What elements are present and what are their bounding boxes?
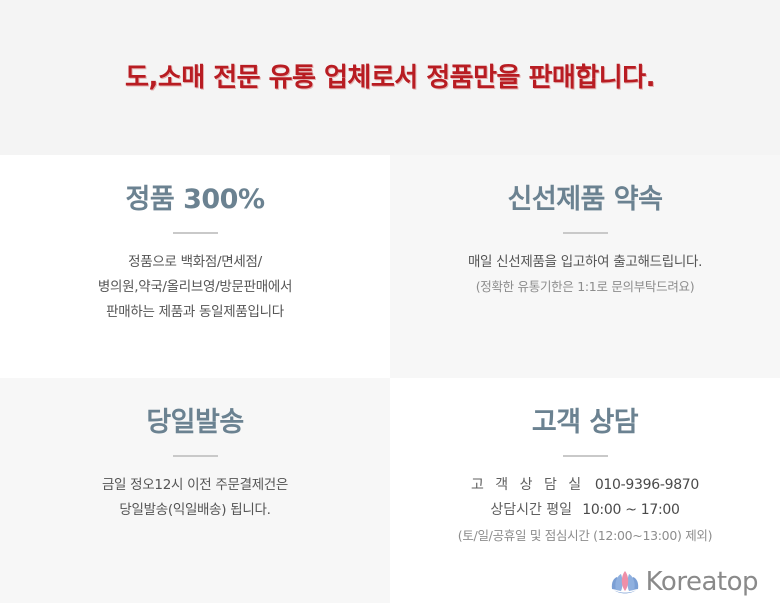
contact-phone-row: 고 객 상 담 실 010-9396-9870: [458, 473, 712, 498]
feature-line: 정품으로 백화점/면세점/: [98, 250, 292, 275]
contact-hours-value: 10:00 ~ 17:00: [582, 502, 679, 518]
feature-cell-authenticity: 정품 300% 정품으로 백화점/면세점/ 병의원,약국/올리브영/방문판매에서…: [0, 155, 390, 378]
feature-title: 정품 300%: [126, 185, 265, 215]
header-band: 도,소매 전문 유통 업체로서 정품만을 판매합니다.: [0, 0, 780, 155]
feature-note: (정확한 유통기한은 1:1로 문의부탁드려요): [468, 275, 702, 298]
feature-grid: 정품 300% 정품으로 백화점/면세점/ 병의원,약국/올리브영/방문판매에서…: [0, 155, 780, 603]
contact-exclusion-note: (토/일/공휴일 및 점심시간 (12:00~13:00) 제외): [458, 525, 712, 548]
title-divider: [173, 455, 218, 457]
title-divider: [563, 455, 608, 457]
contact-phone-value[interactable]: 010-9396-9870: [595, 477, 699, 493]
feature-cell-freshness: 신선제품 약속 매일 신선제품을 입고하여 출고해드립니다. (정확한 유통기한…: [390, 155, 780, 378]
lotus-flower-icon: [610, 569, 640, 595]
contact-phone-label: 고 객 상 담 실: [471, 477, 585, 493]
feature-line: 판매하는 제품과 동일제품입니다: [98, 300, 292, 325]
feature-cell-same-day-shipping: 당일발송 금일 정오12시 이전 주문결제건은 당일발송(익일배송) 됩니다.: [0, 378, 390, 603]
contact-details: 고 객 상 담 실 010-9396-9870 상담시간 평일 10:00 ~ …: [458, 473, 712, 548]
feature-body: 금일 정오12시 이전 주문결제건은 당일발송(익일배송) 됩니다.: [102, 473, 288, 523]
feature-line: 매일 신선제품을 입고하여 출고해드립니다.: [468, 250, 702, 275]
title-divider: [173, 232, 218, 234]
feature-body: 매일 신선제품을 입고하여 출고해드립니다. (정확한 유통기한은 1:1로 문…: [468, 250, 702, 298]
feature-title: 당일발송: [146, 408, 243, 438]
brand-name: Koreatop: [646, 569, 758, 595]
page-title: 도,소매 전문 유통 업체로서 정품만을 판매합니다.: [125, 65, 655, 91]
feature-line: 병의원,약국/올리브영/방문판매에서: [98, 275, 292, 300]
contact-hours-row: 상담시간 평일 10:00 ~ 17:00: [458, 498, 712, 523]
promo-banner: 도,소매 전문 유통 업체로서 정품만을 판매합니다. 정품 300% 정품으로…: [0, 0, 780, 603]
feature-title: 신선제품 약속: [508, 185, 663, 215]
contact-hours-label: 상담시간 평일: [490, 502, 572, 518]
brand-logo[interactable]: Koreatop: [610, 569, 758, 595]
feature-body: 정품으로 백화점/면세점/ 병의원,약국/올리브영/방문판매에서 판매하는 제품…: [98, 250, 292, 325]
title-divider: [563, 232, 608, 234]
feature-title: 고객 상담: [532, 408, 638, 438]
feature-line: 금일 정오12시 이전 주문결제건은: [102, 473, 288, 498]
feature-line: 당일발송(익일배송) 됩니다.: [102, 498, 288, 523]
